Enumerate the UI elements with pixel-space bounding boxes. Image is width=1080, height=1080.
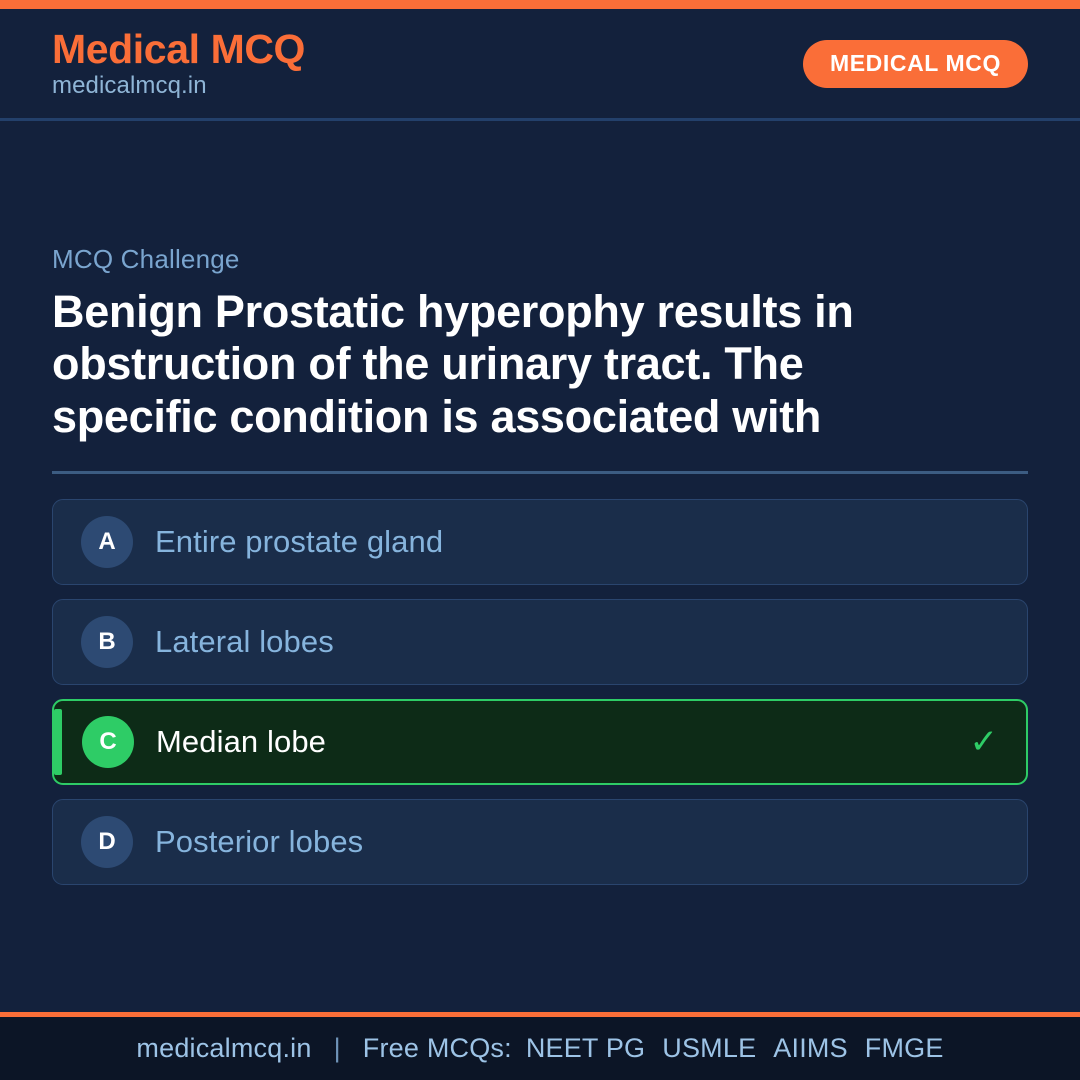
mcq-card: Medical MCQ medicalmcq.in MEDICAL MCQ MC… xyxy=(0,0,1080,1080)
footer: medicalmcq.in | Free MCQs: NEET PG USMLE… xyxy=(0,1012,1080,1080)
brand-subtitle: medicalmcq.in xyxy=(52,73,305,99)
top-accent-bar xyxy=(0,0,1080,9)
option-letter-badge: A xyxy=(81,516,133,568)
options-list: A Entire prostate gland B Lateral lobes … xyxy=(52,499,1028,885)
main-content: MCQ Challenge Benign Prostatic hyperophy… xyxy=(0,121,1080,1012)
option-letter-badge: B xyxy=(81,616,133,668)
footer-exam-fmge[interactable]: FMGE xyxy=(865,1035,944,1062)
brand-title: Medical MCQ xyxy=(52,28,305,71)
option-label: Entire prostate gland xyxy=(155,524,999,560)
question-divider xyxy=(52,471,1028,474)
kicker-label: MCQ Challenge xyxy=(52,245,1028,274)
question-text: Benign Prostatic hyperophy results in ob… xyxy=(52,286,882,444)
option-d[interactable]: D Posterior lobes xyxy=(52,799,1028,885)
footer-label: Free MCQs: xyxy=(363,1035,512,1062)
option-label: Median lobe xyxy=(156,724,970,760)
footer-site-link[interactable]: medicalmcq.in xyxy=(136,1035,311,1062)
footer-exam-aiims[interactable]: AIIMS xyxy=(773,1035,848,1062)
header-badge: MEDICAL MCQ xyxy=(803,40,1028,88)
footer-exam-usmle[interactable]: USMLE xyxy=(662,1035,756,1062)
footer-separator: | xyxy=(334,1035,341,1062)
option-a[interactable]: A Entire prostate gland xyxy=(52,499,1028,585)
option-c[interactable]: C Median lobe ✓ xyxy=(52,699,1028,785)
brand: Medical MCQ medicalmcq.in xyxy=(52,28,305,99)
footer-exam-neet-pg[interactable]: NEET PG xyxy=(526,1035,645,1062)
header: Medical MCQ medicalmcq.in MEDICAL MCQ xyxy=(0,9,1080,121)
option-letter-badge: D xyxy=(81,816,133,868)
option-letter-badge: C xyxy=(82,716,134,768)
option-label: Posterior lobes xyxy=(155,824,999,860)
check-icon: ✓ xyxy=(970,725,999,759)
option-b[interactable]: B Lateral lobes xyxy=(52,599,1028,685)
option-label: Lateral lobes xyxy=(155,624,999,660)
footer-content: medicalmcq.in | Free MCQs: NEET PG USMLE… xyxy=(136,1035,943,1062)
